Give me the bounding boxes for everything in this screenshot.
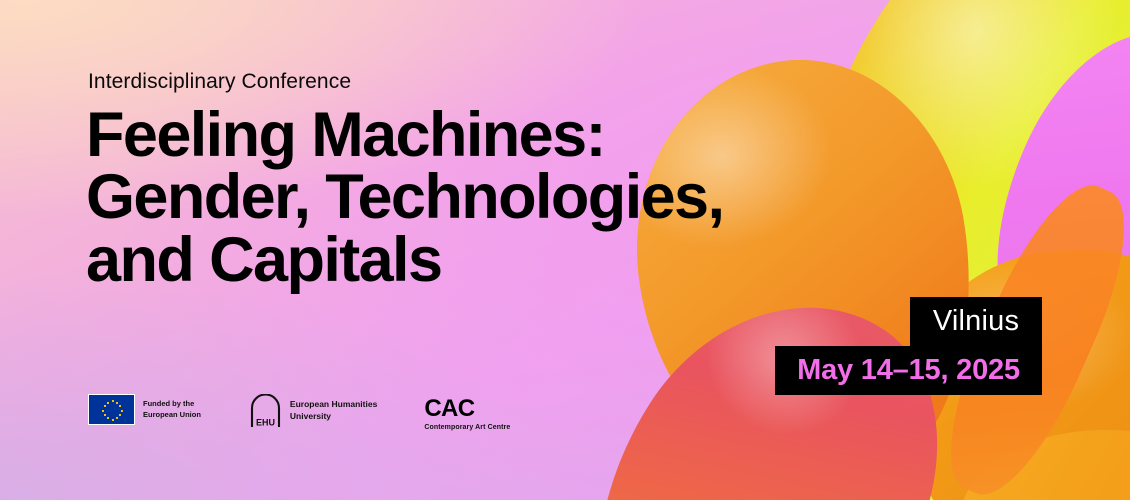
ehu-arch-icon: EHU — [250, 394, 281, 428]
conference-banner: Interdisciplinary Conference Feeling Mac… — [0, 0, 1130, 500]
logo-cac-label: Contemporary Art Centre — [424, 424, 510, 431]
logo-cac-mark: CAC — [424, 397, 474, 421]
banner-content: Interdisciplinary Conference Feeling Mac… — [0, 0, 1130, 500]
date-badge: May 14–15, 2025 — [775, 346, 1042, 395]
city-badge-label: Vilnius — [933, 305, 1019, 338]
eu-flag-icon — [88, 394, 135, 425]
svg-text:EHU: EHU — [256, 418, 275, 428]
conference-title: Feeling Machines: Gender, Technologies, … — [86, 104, 723, 291]
logo-european-union: Funded by the European Union — [88, 394, 201, 425]
title-line-3: and Capitals — [86, 229, 723, 291]
partner-logos: Funded by the European Union EHU Europea… — [88, 394, 510, 431]
title-line-2: Gender, Technologies, — [86, 166, 723, 228]
city-badge: Vilnius — [910, 297, 1042, 346]
conference-eyebrow: Interdisciplinary Conference — [88, 70, 351, 94]
title-line-1: Feeling Machines: — [86, 104, 723, 166]
logo-ehu: EHU European Humanities University — [250, 394, 377, 428]
date-badge-label: May 14–15, 2025 — [797, 354, 1020, 387]
logo-cac: CAC Contemporary Art Centre — [424, 394, 510, 431]
logo-european-union-label: Funded by the European Union — [143, 399, 201, 419]
logo-ehu-label: European Humanities University — [290, 399, 377, 423]
